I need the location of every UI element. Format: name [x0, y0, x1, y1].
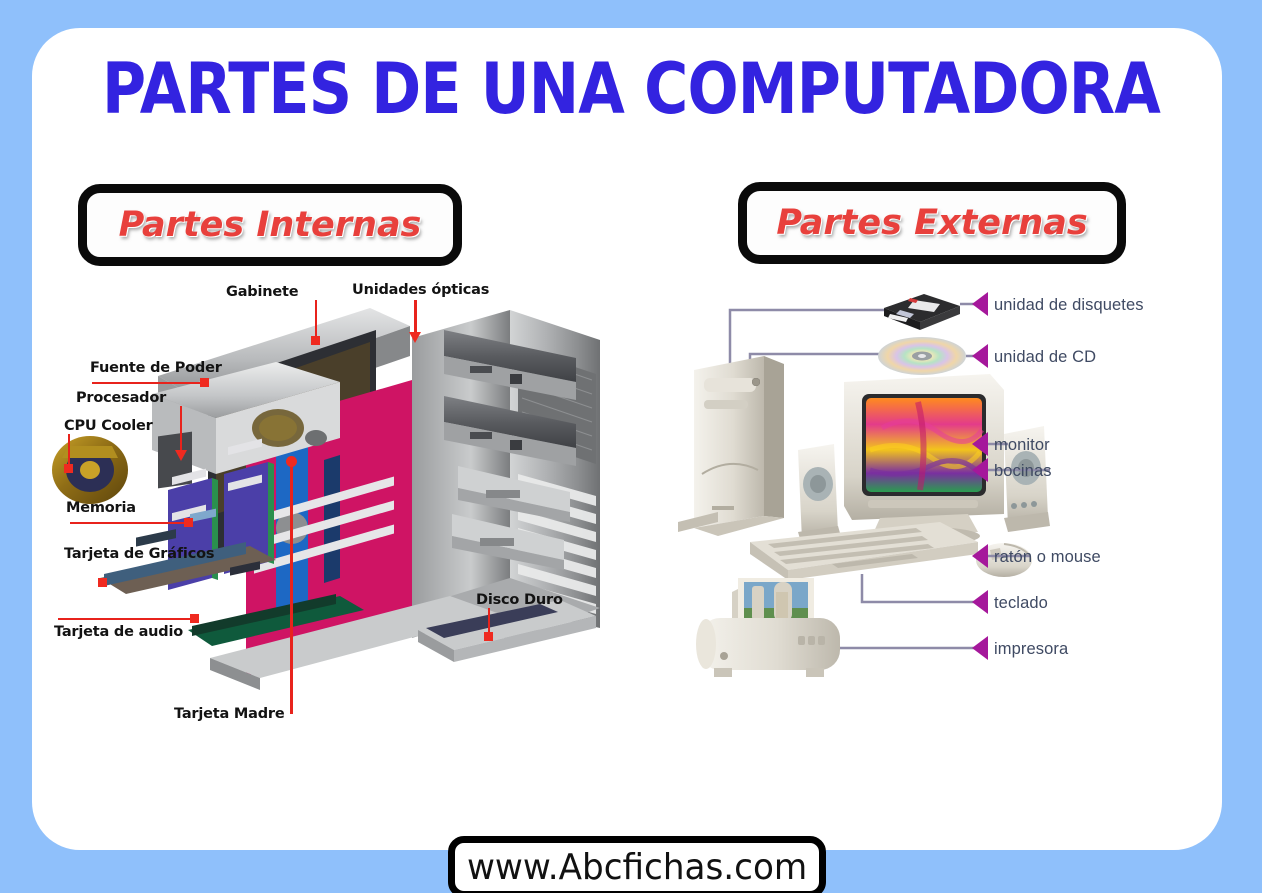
- label-fuente-de-poder: Fuente de Poder: [90, 360, 222, 376]
- footer-url-text: www.Abcfichas.com: [467, 847, 807, 888]
- pointer-line-fuente-de-poder: [92, 382, 202, 384]
- section-badge-external: Partes Externas: [738, 182, 1126, 264]
- pointer-arrow-unidad-de-cd: [972, 344, 988, 368]
- label-procesador: Procesador: [76, 390, 166, 406]
- internal-parts-illustration: Gabinete Unidades ópticas Fuente de Pode…: [40, 278, 640, 748]
- poster-root: PARTES DE UNA COMPUTADORA Partes Interna…: [0, 0, 1262, 893]
- pointer-arrow-raton-o-mouse: [972, 544, 988, 568]
- pointer-line-unidades-opticas: [414, 300, 417, 336]
- pointer-dot-gabinete: [311, 336, 320, 345]
- pointer-arrow-teclado: [972, 590, 988, 614]
- label-tarjeta-de-audio: Tarjeta de audio: [54, 624, 183, 640]
- external-parts-illustration: unidad de disquetes unidad de CD monitor…: [672, 278, 1192, 698]
- pointer-arrow-unidades-opticas: [409, 332, 421, 343]
- pointer-arrow-monitor: [972, 432, 988, 456]
- pointer-line-tarjeta-madre: [290, 460, 293, 714]
- pointer-dot-tarjeta-de-graficos: [98, 578, 107, 587]
- pointer-line-gabinete: [315, 300, 317, 338]
- label-raton-o-mouse: ratón o mouse: [994, 548, 1101, 567]
- pointer-arrow-procesador: [175, 450, 187, 461]
- label-unidad-de-disquetes: unidad de disquetes: [994, 296, 1144, 315]
- desktop-computer-graphic: [672, 278, 1192, 698]
- label-gabinete: Gabinete: [226, 284, 298, 300]
- pointer-line-memoria: [70, 522, 188, 524]
- footer-url-box[interactable]: www.Abcfichas.com: [448, 836, 826, 893]
- label-impresora: impresora: [994, 640, 1068, 659]
- pointer-dot-memoria: [184, 518, 193, 527]
- pointer-arrow-impresora: [972, 636, 988, 660]
- label-disco-duro: Disco Duro: [476, 592, 563, 608]
- page-title: PARTES DE UNA COMPUTADORA: [88, 48, 1173, 130]
- label-monitor: monitor: [994, 436, 1050, 455]
- pointer-arrow-unidad-de-disquetes: [972, 292, 988, 316]
- section-badge-external-label: Partes Externas: [776, 203, 1087, 243]
- pointer-line-cpu-cooler: [68, 434, 70, 466]
- pointer-line-tarjeta-de-audio: [58, 618, 192, 620]
- section-badge-internal: Partes Internas: [78, 184, 462, 266]
- label-cpu-cooler: CPU Cooler: [64, 418, 153, 434]
- pointer-line-procesador: [180, 406, 182, 454]
- pointer-dot-disco-duro: [484, 632, 493, 641]
- label-tarjeta-madre: Tarjeta Madre: [174, 706, 285, 722]
- label-teclado: teclado: [994, 594, 1048, 613]
- section-badge-internal-label: Partes Internas: [119, 205, 422, 245]
- pointer-dot-cpu-cooler: [64, 464, 73, 473]
- pointer-dot-fuente-de-poder: [200, 378, 209, 387]
- pointer-dot-tarjeta-de-audio: [190, 614, 199, 623]
- pointer-dot-tarjeta-madre: [286, 456, 297, 467]
- pointer-arrow-bocinas: [972, 458, 988, 482]
- label-bocinas: bocinas: [994, 462, 1052, 481]
- label-tarjeta-de-graficos: Tarjeta de Gráficos: [64, 546, 214, 562]
- label-unidades-opticas: Unidades ópticas: [352, 282, 489, 298]
- label-memoria: Memoria: [66, 500, 136, 516]
- label-unidad-de-cd: unidad de CD: [994, 348, 1096, 367]
